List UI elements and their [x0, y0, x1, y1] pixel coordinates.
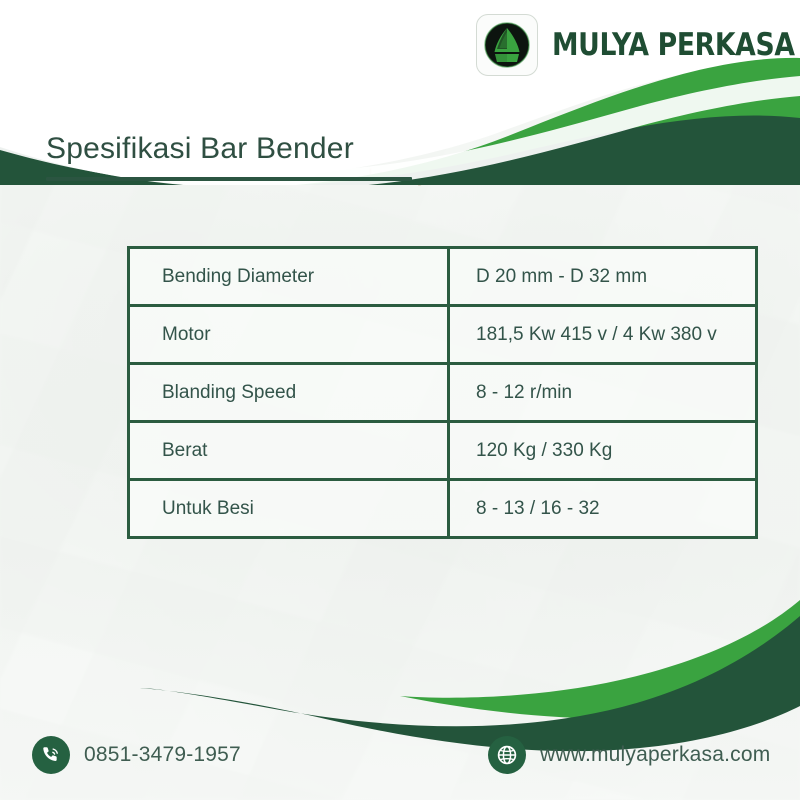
title-underline: [46, 177, 412, 181]
globe-icon: [488, 736, 526, 774]
page-title: Spesifikasi Bar Bender: [46, 132, 412, 166]
table-row: Blanding Speed 8 - 12 r/min: [129, 364, 757, 422]
spec-value: 8 - 12 r/min: [449, 364, 757, 422]
logo-badge: [476, 14, 538, 76]
table-row: Berat 120 Kg / 330 Kg: [129, 422, 757, 480]
specification-table: Bending Diameter D 20 mm - D 32 mm Motor…: [127, 246, 758, 539]
specification-table-body: Bending Diameter D 20 mm - D 32 mm Motor…: [129, 248, 757, 538]
contact-phone[interactable]: 0851-3479-1957: [32, 736, 241, 774]
spec-label: Bending Diameter: [129, 248, 449, 306]
spec-label: Berat: [129, 422, 449, 480]
footer-bar: 0851-3479-1957 www.mulyaperkasa.com: [0, 736, 800, 778]
poster-canvas: Luxury Cluster MULYA PERKASA Spesifikasi…: [0, 0, 800, 800]
bottom-wave-dark-green: [140, 616, 800, 751]
spec-value: D 20 mm - D 32 mm: [449, 248, 757, 306]
spec-label: Blanding Speed: [129, 364, 449, 422]
phone-number-text: 0851-3479-1957: [84, 743, 241, 767]
spec-label: Untuk Besi: [129, 480, 449, 538]
spec-label: Motor: [129, 306, 449, 364]
table-row: Bending Diameter D 20 mm - D 32 mm: [129, 248, 757, 306]
phone-icon: [32, 736, 70, 774]
tree-logo-icon: [482, 20, 532, 70]
website-url-text: www.mulyaperkasa.com: [540, 743, 770, 767]
table-row: Untuk Besi 8 - 13 / 16 - 32: [129, 480, 757, 538]
spec-value: 8 - 13 / 16 - 32: [449, 480, 757, 538]
table-row: Motor 181,5 Kw 415 v / 4 Kw 380 v: [129, 306, 757, 364]
spec-value: 181,5 Kw 415 v / 4 Kw 380 v: [449, 306, 757, 364]
brand-logo-group: MULYA PERKASA: [476, 14, 800, 76]
title-block: Spesifikasi Bar Bender: [46, 132, 412, 181]
brand-name: MULYA PERKASA: [552, 27, 795, 63]
spec-value: 120 Kg / 330 Kg: [449, 422, 757, 480]
contact-website[interactable]: www.mulyaperkasa.com: [488, 736, 770, 774]
globe-icon-glyph: [495, 743, 519, 767]
phone-icon-glyph: [40, 744, 62, 766]
